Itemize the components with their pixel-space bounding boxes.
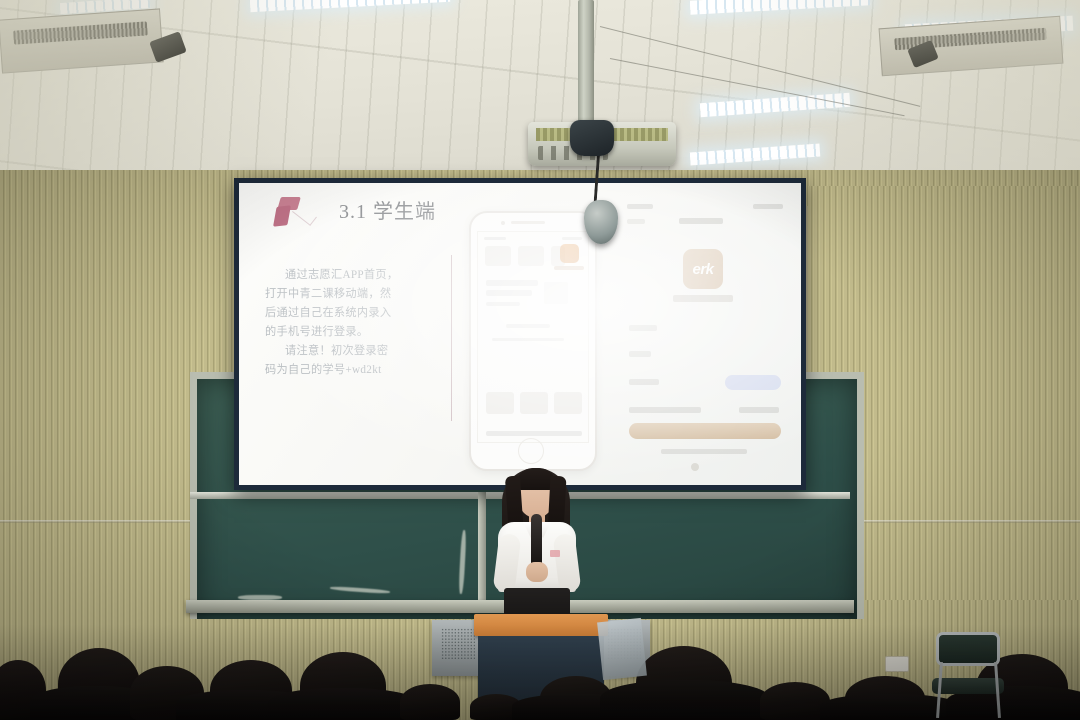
projector-mount-pole xyxy=(578,0,594,140)
lecture-hall-scene: 3.1 学生端 通过志愿汇APP首页， 打开中青二课移动端，然 后通过自己在系统… xyxy=(0,0,1080,720)
ceiling-camera xyxy=(570,120,614,156)
scene-vignette xyxy=(0,170,1080,720)
